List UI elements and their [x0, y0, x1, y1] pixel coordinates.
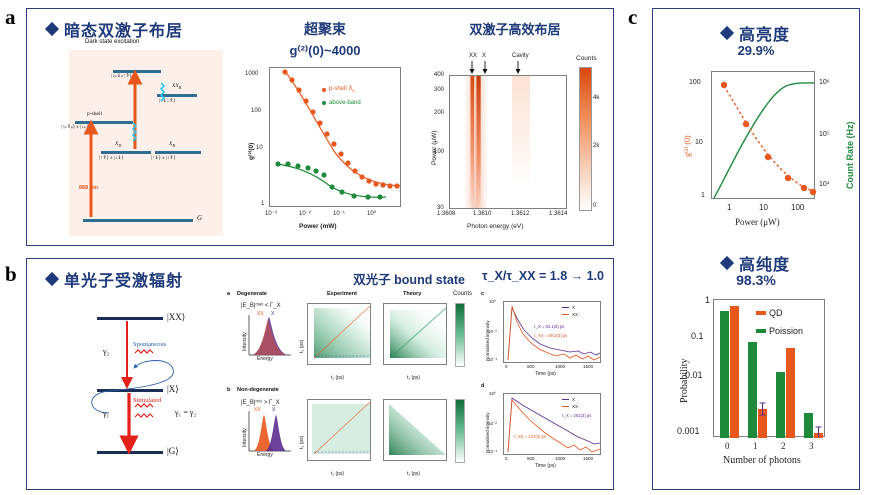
- heatmap-ytick-200: 200: [434, 110, 444, 116]
- decay-c-xtick-2: 1000: [555, 364, 565, 369]
- heatmap-annotation-xx: XX: [469, 53, 477, 59]
- brightness-right-ytick-5: 10⁵: [819, 131, 830, 138]
- decay-d-legend-x: X: [562, 397, 575, 402]
- heatmap-xtick-2: 1.3612: [511, 211, 529, 217]
- decay-d-xtick-3: 1500: [583, 456, 593, 461]
- panel-b-section-title: 单光子受激辐射: [47, 267, 183, 291]
- corr-map-theory-degenerate: [383, 303, 447, 365]
- corr-map-colorbar-bottom: [455, 399, 465, 463]
- heatmap-plot-area: [449, 75, 567, 209]
- spectrum-b-xlabel: Energy: [257, 452, 273, 458]
- corr-map-theory-deg-image: [384, 304, 447, 365]
- brightness-xtick-1: 1: [727, 203, 731, 212]
- heatmap-annotation-x: X: [482, 53, 486, 59]
- brightness-left-ytick-10: 10: [695, 139, 703, 146]
- decay-d-legend-label-xx: XX: [572, 404, 578, 409]
- corr-map-exp-deg-image: [308, 304, 371, 365]
- gamma-relation-label: γ₁ = γ₂: [175, 408, 196, 417]
- decay-section-title: τ_X/τ_XX = 1.8 → 1.0: [475, 269, 611, 283]
- heatmap-ytick-400: 400: [434, 72, 444, 78]
- spectrum-a-peak-x: X: [271, 311, 274, 317]
- heatmap-xtick-0: 1.3608: [437, 211, 455, 217]
- decay-d-yaxis-label: Normalised intensity: [485, 412, 490, 453]
- panel-b-transitions: [57, 293, 225, 483]
- purity-legend-label-qd: QD: [769, 308, 783, 318]
- spectrum-a-peak-xx: XX: [257, 311, 264, 317]
- panel-letter-a: a: [5, 5, 16, 30]
- corr-map-b-xlabel: t₁ (ps): [331, 471, 344, 477]
- panel-b-midsection: 双光子 bound state a Degenerate |E_B|ᵐᵃˣ < …: [227, 269, 471, 487]
- purity-bars: [714, 300, 826, 438]
- row-b-tag: b: [227, 387, 230, 393]
- spectrum-a-ylabel: Intensity: [242, 332, 248, 351]
- panel-b-title-text: 单光子受激辐射: [64, 267, 183, 291]
- g2-chart-title: 超聚束: [235, 19, 415, 39]
- corr-map-b-theory-xlabel: t₁ (ps): [407, 471, 420, 477]
- spectrum-degenerate: XX X Energy Intensity: [241, 313, 293, 363]
- brightness-value: 29.9%: [653, 43, 859, 58]
- g2-yaxis-label: g⁽²⁾(0): [247, 143, 255, 160]
- heatmap-image: [450, 76, 567, 209]
- heatmap-title: 双激子高效布居: [419, 19, 611, 38]
- legend-swatch-icon: [756, 329, 766, 333]
- heatmap-annotation-cavity: Cavity: [512, 53, 529, 59]
- purity-xtick-0: 0: [725, 441, 730, 451]
- brightness-right-ytick-6: 10⁶: [819, 79, 830, 86]
- colorbar-tick-0: 0: [593, 203, 596, 209]
- panel-a-g2-chart: 超聚束 g⁽²⁾(0)~4000: [235, 15, 415, 241]
- corr-map-b-ylabel: t₂ (ps): [299, 436, 305, 449]
- decay-plot-c: X XX τ_X = 83.1(6) ps τ_XX = 59.2(3) ps: [503, 301, 601, 363]
- brightness-chart: 100 10 1 10⁶ 10⁵ 10⁴ 1 10 100 Power (μW)…: [661, 61, 855, 241]
- decay-c-tag: c: [481, 291, 484, 297]
- g2-ytick-1: 10: [256, 145, 263, 151]
- legend-swatch-icon: [756, 311, 766, 315]
- g2-xtick-0: 10⁻³: [265, 210, 277, 217]
- decay-d-xtick-1: 500: [527, 456, 535, 461]
- decay-d-annotation-tau-x: τ_X = 251(3) ps: [562, 413, 591, 418]
- purity-legend-label-poission: Poission: [769, 326, 803, 336]
- stimulated-label: Stimulated: [133, 397, 161, 404]
- corr-map-theory-nondeg-image: [384, 400, 447, 461]
- legend-line-icon: [562, 307, 569, 309]
- heatmap-colorbar: [579, 67, 592, 211]
- brightness-right-yaxis-label: Count Rate (Hz): [845, 122, 855, 190]
- brightness-left-ytick-1: 1: [701, 192, 705, 199]
- g2-ytick-0: 1: [261, 201, 264, 207]
- purity-xtick-3: 3: [809, 441, 814, 451]
- panel-letter-b: b: [5, 262, 17, 287]
- corr-map-exp-degenerate: [307, 303, 371, 365]
- purity-xtick-1: 1: [753, 441, 758, 451]
- purity-yaxis-label: Probability: [679, 359, 690, 403]
- decay-c-xtick-0: 0: [505, 364, 508, 369]
- heatmap-yaxis-label: Power (μW): [431, 131, 438, 165]
- decay-c-annotation-tau-xx: τ_XX = 59.2(3) ps: [534, 333, 567, 338]
- decay-c-legend-x: X: [562, 305, 575, 310]
- rate-gamma2-label: γ₂: [103, 347, 109, 356]
- g2-ytick-2: 100: [251, 108, 261, 114]
- brightness-plot-area: [711, 71, 815, 199]
- decay-d-xtick-0: 0: [505, 456, 508, 461]
- decay-d-curves: [504, 394, 601, 455]
- spectrum-nondegenerate: XX X Energy Intensity: [241, 409, 293, 459]
- purity-legend-poission: Poission: [756, 326, 803, 336]
- purity-plot-area: QD Poission: [713, 299, 825, 437]
- panel-b-decay-section: τ_X/τ_XX = 1.8 → 1.0 c X XX τ_X = 83.1(6…: [475, 269, 611, 487]
- colorbar-tick-2k: 2k: [593, 143, 599, 149]
- panel-c-brightness-title-text: 高亮度: [739, 21, 790, 45]
- g2-xtick-3: 10⁰: [367, 210, 376, 217]
- purity-ytick-0.001: 0.001: [677, 426, 700, 436]
- panel-letter-c: c: [628, 5, 637, 30]
- row-b-name: Non-degenerate: [237, 387, 279, 393]
- panel-c: 高亮度 29.9% 100 10 1 10⁶ 10⁵ 10⁴ 1 10 100 …: [652, 8, 860, 490]
- spectrum-b-ylabel: Intensity: [242, 428, 248, 447]
- bound-state-title-en: bound state: [394, 273, 465, 287]
- corr-map-a-theory-xlabel: t₁ (ps): [407, 375, 420, 381]
- purity-value: 98.3%: [653, 272, 859, 288]
- panel-b: 单光子受激辐射 |XX⟩ |X⟩ |G⟩: [26, 258, 614, 490]
- pump-wavelength-label: 888 nm: [79, 185, 98, 191]
- heatmap-colorbar-title: Counts: [576, 55, 597, 62]
- diamond-bullet-icon: [720, 256, 734, 270]
- decay-d-annotation-tau-xx: τ_XX = 137(2) ps: [514, 434, 546, 439]
- corr-map-exp-nondeg-image: [308, 400, 371, 461]
- legend-line-icon: [562, 406, 569, 408]
- row-b-condition: |E_B|ᵐⁱⁿ > Γ_X: [241, 399, 280, 406]
- panel-a: 暗态双激子布居 Dark state excitation G p-shell …: [26, 8, 614, 246]
- heatmap-xaxis-label: Photon energy (eV): [467, 223, 523, 230]
- decay-plot-d: X XX τ_X = 251(3) ps τ_XX = 137(2) ps: [503, 393, 601, 455]
- decay-c-xtick-3: 1500: [583, 364, 593, 369]
- corr-map-exp-nondegenerate: [307, 399, 371, 461]
- purity-xaxis-label: Number of photons: [723, 455, 801, 466]
- purity-legend-qd: QD: [756, 308, 783, 318]
- legend-line-icon: [562, 314, 569, 316]
- g2-chart-subtitle: g⁽²⁾(0)~4000: [235, 43, 415, 59]
- g2-xtick-2: 10⁻¹: [333, 210, 345, 217]
- panel-b-level-diagram: |XX⟩ |X⟩ |G⟩ γ₂ γ₁ Sponta: [57, 293, 225, 483]
- g2-xtick-1: 10⁻²: [299, 210, 311, 217]
- purity-xtick-2: 2: [781, 441, 786, 451]
- panel-a-heatmap: 双激子高效布居 XX X Cavity: [419, 15, 611, 241]
- brightness-xaxis-label: Power (μW): [735, 217, 780, 227]
- corr-map-a-ylabel: t₂ (ps): [299, 340, 305, 353]
- row-a-condition: |E_B|ᵐᵃˣ < Γ_X: [241, 303, 281, 309]
- panel-c-brightness-title: 高亮度: [653, 21, 859, 45]
- colorbar-tick-4k: 4k: [593, 95, 599, 101]
- row-a-tag: a: [227, 291, 230, 297]
- purity-chart: QD Poission 1 0.1 0.01 0.001 0 1 2 3 Num…: [661, 293, 855, 483]
- decay-c-xaxis-label: Time (ps): [535, 371, 556, 377]
- decay-c-legend-xx: XX: [562, 312, 578, 317]
- g2-legend-item-1: above-band: [322, 100, 361, 106]
- g2-legend-item-0: p-shell XD: [322, 86, 355, 93]
- panel-a-title-text: 暗态双激子布居: [64, 17, 183, 41]
- decay-d-xaxis-label: Time (ps): [535, 463, 556, 469]
- heatmap-xtick-3: 1.3614: [549, 211, 567, 217]
- diagram-arrows: [55, 39, 223, 237]
- decay-c-ytick-0: 10⁰: [489, 299, 496, 305]
- bound-state-title-cn: 双光子: [353, 273, 391, 287]
- decay-d-legend-xx: XX: [562, 404, 578, 409]
- decay-c-annotation-tau-x: τ_X = 83.1(6) ps: [534, 324, 564, 329]
- corr-map-colorbar-title: Counts: [453, 291, 472, 297]
- panel-a-section-title: 暗态双激子布居: [47, 17, 183, 41]
- diamond-bullet-icon: [720, 26, 734, 40]
- decay-c-legend-label-xx: XX: [572, 312, 578, 317]
- col-header-experiment: Experiment: [327, 291, 357, 297]
- decay-d-tag: d: [481, 383, 484, 389]
- spontaneous-label: Spontaneous: [133, 341, 166, 348]
- decay-c-xtick-1: 500: [527, 364, 535, 369]
- spectrum-b-peak-x: X: [272, 407, 275, 413]
- g2-xaxis-label: Power (mW): [299, 223, 337, 230]
- rate-gamma1-label: γ₁: [103, 409, 109, 418]
- corr-map-theory-nondegenerate: [383, 399, 447, 461]
- spectrum-a-xlabel: Energy: [257, 356, 273, 362]
- g2-legend-label-0: p-shell XD: [329, 86, 355, 93]
- brightness-left-yaxis-label: g⁽²⁾ (0): [683, 135, 692, 157]
- legend-dot-icon: [322, 101, 326, 105]
- diamond-bullet-icon: [45, 22, 59, 36]
- heatmap-xtick-1: 1.3610: [473, 211, 491, 217]
- brightness-series: [712, 72, 816, 200]
- brightness-xtick-100: 100: [791, 203, 804, 212]
- corr-map-colorbar-top: [455, 303, 465, 367]
- brightness-left-ytick-100: 100: [689, 79, 701, 86]
- spectrum-b-peak-xx: XX: [254, 407, 261, 413]
- legend-dot-icon: [322, 88, 326, 92]
- panel-a-level-diagram: Dark state excitation G p-shell |↑ₚ⇑ₚ⟩ ±…: [55, 39, 223, 237]
- decay-c-legend-label-x: X: [572, 305, 575, 310]
- row-a-name: Degenerate: [237, 291, 267, 297]
- col-header-theory: Theory: [403, 291, 421, 297]
- brightness-right-ytick-4: 10⁴: [819, 181, 830, 188]
- bound-state-title: 双光子 bound state: [227, 269, 471, 288]
- diamond-bullet-icon: [45, 272, 59, 286]
- purity-ytick-0.1: 0.1: [691, 331, 704, 341]
- decay-d-xtick-2: 1000: [555, 456, 565, 461]
- g2-plot-area: p-shell XD above-band: [269, 67, 401, 207]
- decay-c-yaxis-label: Normalised intensity: [485, 320, 490, 361]
- purity-ytick-1: 1: [705, 295, 710, 305]
- legend-line-icon: [562, 399, 569, 401]
- heatmap-ytick-300: 300: [434, 87, 444, 93]
- decay-d-ytick-0: 10⁰: [489, 391, 496, 397]
- g2-ytick-3: 1000: [245, 71, 258, 77]
- decay-d-legend-label-x: X: [572, 397, 575, 402]
- corr-map-a-xlabel: t₁ (ps): [331, 375, 344, 381]
- g2-legend-label-1: above-band: [329, 100, 361, 106]
- brightness-xtick-10: 10: [759, 203, 768, 212]
